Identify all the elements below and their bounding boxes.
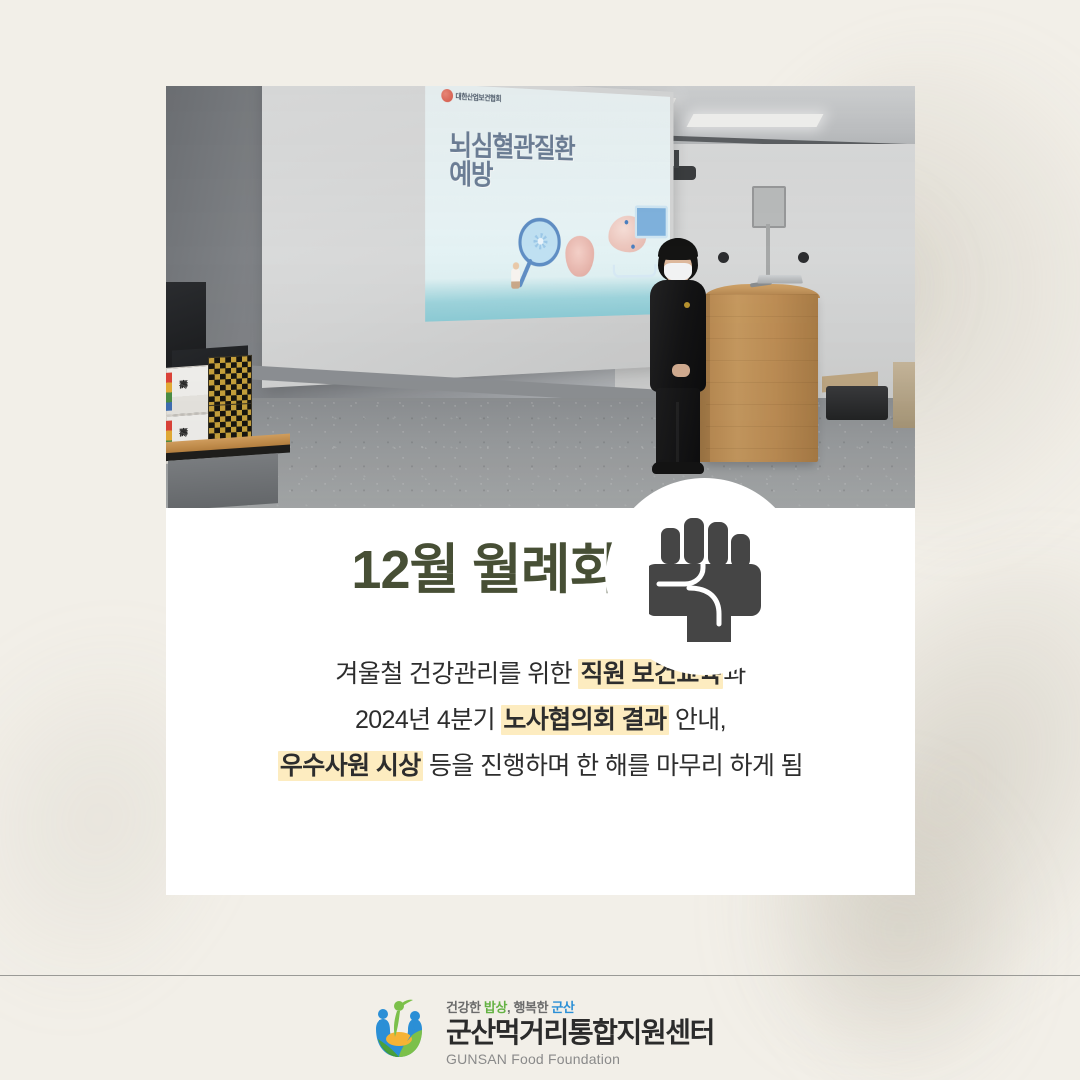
ceiling-light	[687, 114, 824, 127]
presenter-bangs	[658, 238, 698, 260]
side-table-base	[168, 453, 278, 508]
footer-divider	[0, 975, 1080, 976]
body-text-line: 2024년 4분기 노사협의회 결과 안내,	[166, 697, 915, 743]
logo-subtitle: GUNSAN Food Foundation	[446, 1051, 714, 1067]
body-text-run: 겨울철 건강관리를 위한	[335, 660, 578, 688]
footer-logo: 건강한 밥상, 행복한 군산 군산먹거리통합지원센터 GUNSAN Food F…	[0, 984, 1080, 1080]
body-text-line: 우수사원 시상 등을 진행하며 한 해를 마무리 하게 됨	[166, 743, 915, 789]
logo-text-group: 건강한 밥상, 행복한 군산 군산먹거리통합지원센터 GUNSAN Food F…	[446, 997, 714, 1066]
slide-org-name: 대한산업보건협회	[455, 91, 501, 104]
slide-org-logo: 대한산업보건협회	[441, 89, 501, 105]
presenter-trousers	[656, 388, 700, 466]
presenter	[644, 238, 714, 476]
projection-screen: 대한산업보건협회 뇌심혈관질환 예방	[262, 86, 673, 388]
slide-title: 뇌심혈관질환 예방	[449, 132, 574, 191]
monitor-illustration	[635, 205, 668, 238]
poster-page: 대한산업보건협회 뇌심혈관질환 예방	[0, 0, 1080, 1080]
av-equipment	[826, 386, 888, 420]
package-label: 壽	[179, 425, 188, 439]
laptop	[757, 275, 803, 284]
body-text-run: 2024년 4분기	[355, 706, 501, 734]
logo-tagline-run: 밥상	[484, 1000, 507, 1015]
podium-wood-grain	[706, 294, 818, 462]
gunsan-food-foundation-logo-icon	[366, 999, 432, 1065]
content-card: 대한산업보건협회 뇌심혈관질환 예방	[166, 86, 915, 895]
highlighted-phrase: 노사협의회 결과	[501, 705, 668, 735]
logo-tagline: 건강한 밥상, 행복한 군산	[446, 997, 714, 1016]
org-logo-mark	[441, 89, 453, 103]
logo-tagline-run: , 행복한	[507, 1000, 551, 1015]
doctor-illustration	[511, 268, 520, 288]
electrical-box	[752, 186, 786, 228]
podium-caster	[798, 252, 809, 263]
presenter-hands	[672, 364, 690, 377]
fist-badge	[606, 478, 803, 675]
lapel-pin-icon	[684, 302, 690, 308]
presentation-slide: 대한산업보건협회 뇌심혈관질환 예방	[425, 86, 670, 322]
event-photo: 대한산업보건협회 뇌심혈관질환 예방	[166, 86, 915, 508]
body-text-run: 안내,	[669, 706, 727, 734]
presenter-shoes	[652, 462, 704, 474]
slide-title-line-2: 예방	[449, 161, 574, 192]
package-label: 壽	[179, 377, 188, 391]
body-text-run: 등을 진행하며 한 해를 마무리 하게 됨	[423, 752, 803, 780]
logo-tagline-run: 건강한	[446, 1000, 484, 1015]
face-mask	[664, 263, 692, 281]
wooden-cabinet	[893, 362, 915, 428]
highlighted-phrase: 우수사원 시상	[278, 751, 423, 781]
logo-organization-name: 군산먹거리통합지원센터	[446, 1018, 714, 1047]
logo-tagline-run: 군산	[551, 1000, 574, 1015]
package-stripe	[166, 372, 172, 411]
raised-fist-icon	[649, 512, 761, 642]
neuron-illustration	[534, 233, 548, 249]
podium-caster	[718, 252, 729, 263]
podium	[706, 294, 818, 462]
magnifier-illustration	[519, 218, 561, 267]
heart-illustration	[566, 236, 595, 277]
